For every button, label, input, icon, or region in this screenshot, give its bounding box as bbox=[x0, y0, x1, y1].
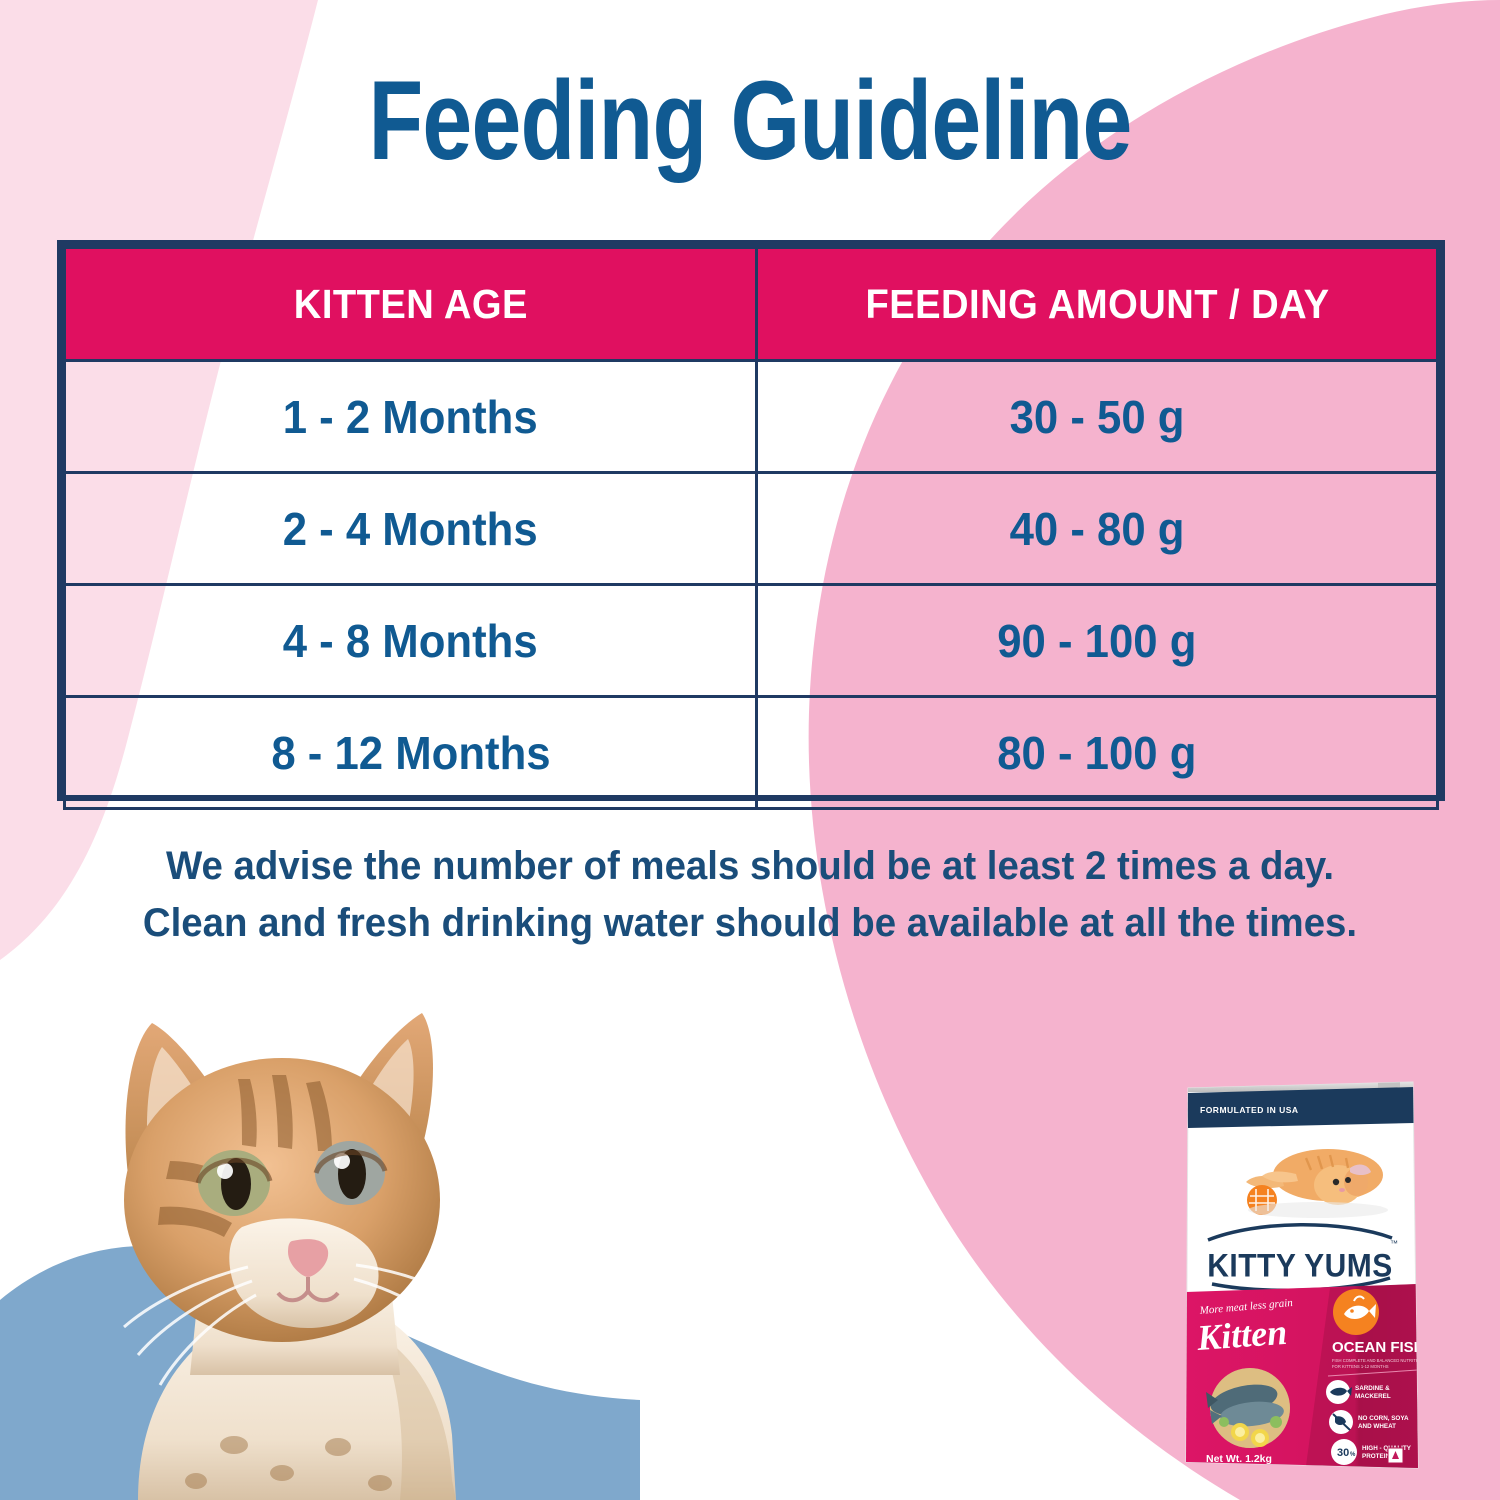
cell-amount-label: 90 - 100 g bbox=[997, 614, 1196, 668]
cell-age-label: 2 - 4 Months bbox=[283, 502, 538, 556]
cell-age: 2 - 4 Months bbox=[65, 473, 757, 585]
table-row: 2 - 4 Months 40 - 80 g bbox=[65, 473, 1438, 585]
bag-trademark-symbol: ™ bbox=[1390, 1239, 1398, 1248]
bag-protein-badge-value: 30 bbox=[1337, 1447, 1349, 1459]
kitten-photo bbox=[20, 975, 560, 1500]
bag-brand-wordmark: KITTY YUMS bbox=[1207, 1247, 1393, 1283]
cell-amount: 30 - 50 g bbox=[757, 361, 1438, 473]
svg-text:AND WHEAT: AND WHEAT bbox=[1358, 1423, 1396, 1430]
svg-text:MACKEREL: MACKEREL bbox=[1355, 1393, 1391, 1400]
feeding-guideline-table: KITTEN AGE FEEDING AMOUNT / DAY 1 - 2 Mo… bbox=[57, 240, 1445, 801]
bag-flavour-label: OCEAN FISH bbox=[1332, 1339, 1423, 1356]
cell-age: 1 - 2 Months bbox=[65, 361, 757, 473]
product-bag: FORMULATED IN USA bbox=[1178, 1070, 1423, 1480]
column-header-kitten-age-label: KITTEN AGE bbox=[293, 281, 527, 328]
cell-amount: 90 - 100 g bbox=[757, 585, 1438, 697]
table-row: 1 - 2 Months 30 - 50 g bbox=[65, 361, 1438, 473]
column-header-feeding-amount-label: FEEDING AMOUNT / DAY bbox=[865, 281, 1329, 328]
cell-amount-label: 30 - 50 g bbox=[1010, 390, 1185, 444]
table-header-row: KITTEN AGE FEEDING AMOUNT / DAY bbox=[65, 248, 1438, 361]
bag-protein-badge-unit: % bbox=[1350, 1452, 1356, 1458]
table-row: 4 - 8 Months 90 - 100 g bbox=[65, 585, 1438, 697]
bag-mark-icon bbox=[1388, 1448, 1403, 1463]
table-row: 8 - 12 Months 80 - 100 g bbox=[65, 697, 1438, 809]
svg-text:NO CORN, SOYA: NO CORN, SOYA bbox=[1358, 1415, 1409, 1422]
cell-age-label: 8 - 12 Months bbox=[271, 726, 550, 780]
cell-age: 8 - 12 Months bbox=[65, 697, 757, 809]
svg-text:HIGH - QUALITY: HIGH - QUALITY bbox=[1362, 1445, 1412, 1452]
svg-text:SARDINE &: SARDINE & bbox=[1355, 1385, 1390, 1392]
bag-life-stage: Kitten bbox=[1195, 1312, 1289, 1358]
cell-amount-label: 80 - 100 g bbox=[997, 726, 1196, 780]
svg-text:PROTEIN: PROTEIN bbox=[1362, 1453, 1390, 1460]
bag-formulated-label: FORMULATED IN USA bbox=[1200, 1105, 1299, 1115]
cell-age-label: 4 - 8 Months bbox=[283, 614, 538, 668]
cell-amount: 80 - 100 g bbox=[757, 697, 1438, 809]
cell-age-label: 1 - 2 Months bbox=[283, 390, 538, 444]
advisory-note-line-1: We advise the number of meals should be … bbox=[30, 838, 1470, 895]
cell-amount-label: 40 - 80 g bbox=[1010, 502, 1185, 556]
page-title: Feeding Guideline bbox=[150, 62, 1350, 180]
column-header-kitten-age: KITTEN AGE bbox=[65, 248, 757, 361]
advisory-note-line-2: Clean and fresh drinking water should be… bbox=[30, 895, 1470, 952]
bag-flavour-subtext-line1: FISH COMPLETE AND BALANCED NUTRITION bbox=[1332, 1358, 1423, 1363]
cell-amount: 40 - 80 g bbox=[757, 473, 1438, 585]
advisory-note: We advise the number of meals should be … bbox=[30, 838, 1470, 952]
column-header-feeding-amount: FEEDING AMOUNT / DAY bbox=[757, 248, 1438, 361]
bag-flavour-subtext-line2: FOR KITTENS 1-12 MONTHS bbox=[1332, 1364, 1389, 1369]
cell-age: 4 - 8 Months bbox=[65, 585, 757, 697]
